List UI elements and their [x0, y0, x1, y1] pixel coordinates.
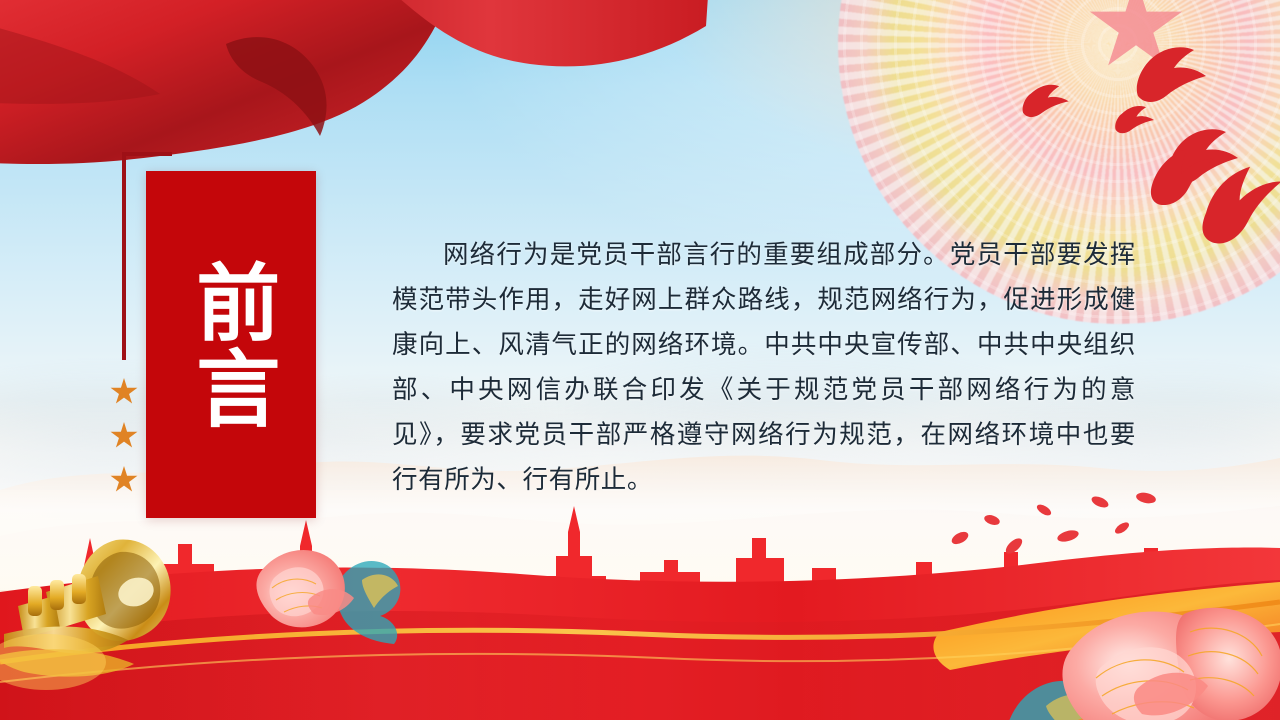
red-flag-ribbon-icon [0, 0, 710, 216]
star-icon [110, 466, 138, 494]
star-icon [110, 378, 138, 406]
flying-doves-icon [1020, 40, 1280, 250]
slide-canvas: 前言 网络行为是党员干部言行的重要组成部分。党员干部要发挥模范带头作用，走好网上… [0, 0, 1280, 720]
page-title: 前言 [182, 259, 279, 431]
pink-peony-flower-icon-left [250, 528, 430, 648]
body-paragraph: 网络行为是党员干部言行的重要组成部分。党员干部要发挥模范带头作用，走好网上群众路… [392, 232, 1136, 502]
golden-bugle-icon [0, 530, 274, 710]
star-group [104, 378, 144, 494]
title-card: 前言 [146, 171, 316, 518]
star-icon [110, 422, 138, 450]
